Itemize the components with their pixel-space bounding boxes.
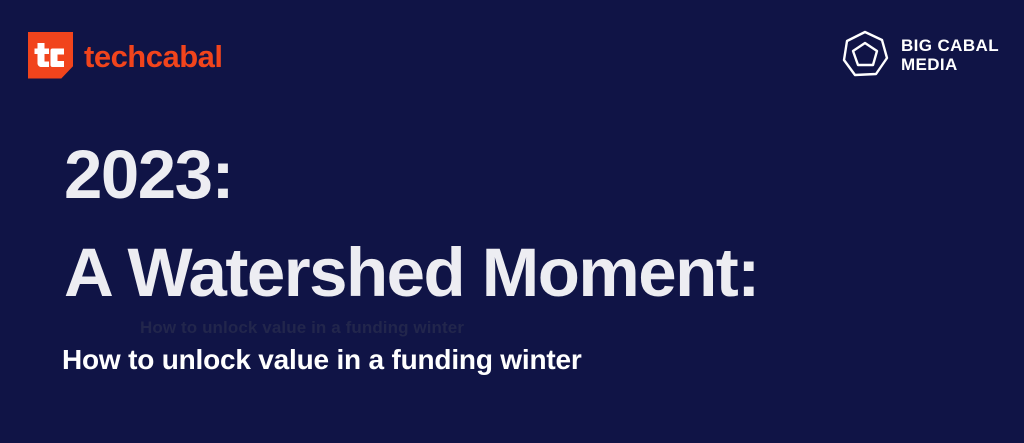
title-line-year: 2023: bbox=[64, 126, 964, 224]
big-cabal-media-heptagon-icon bbox=[840, 29, 890, 81]
big-cabal-media-line1: BIG CABAL bbox=[901, 36, 999, 55]
subtitle-ghost-text: How to unlock value in a funding winter bbox=[140, 318, 464, 338]
techcabal-mark-icon bbox=[28, 32, 73, 79]
techcabal-wordmark: techcabal bbox=[84, 41, 223, 72]
big-cabal-media-line2: MEDIA bbox=[901, 55, 999, 74]
page-subtitle: How to unlock value in a funding winter bbox=[62, 343, 582, 376]
big-cabal-media-wordmark: BIG CABAL MEDIA bbox=[901, 36, 999, 74]
title-line-main: A Watershed Moment: bbox=[64, 224, 964, 322]
page-title: 2023: A Watershed Moment: bbox=[64, 126, 964, 322]
big-cabal-media-logo[interactable]: BIG CABAL MEDIA bbox=[840, 29, 999, 81]
techcabal-logo[interactable]: techcabal bbox=[28, 31, 223, 79]
report-cover-slide: techcabal BIG CABAL MEDIA 2023: A Waters… bbox=[0, 0, 1024, 443]
slide-header: techcabal BIG CABAL MEDIA bbox=[0, 0, 1024, 108]
